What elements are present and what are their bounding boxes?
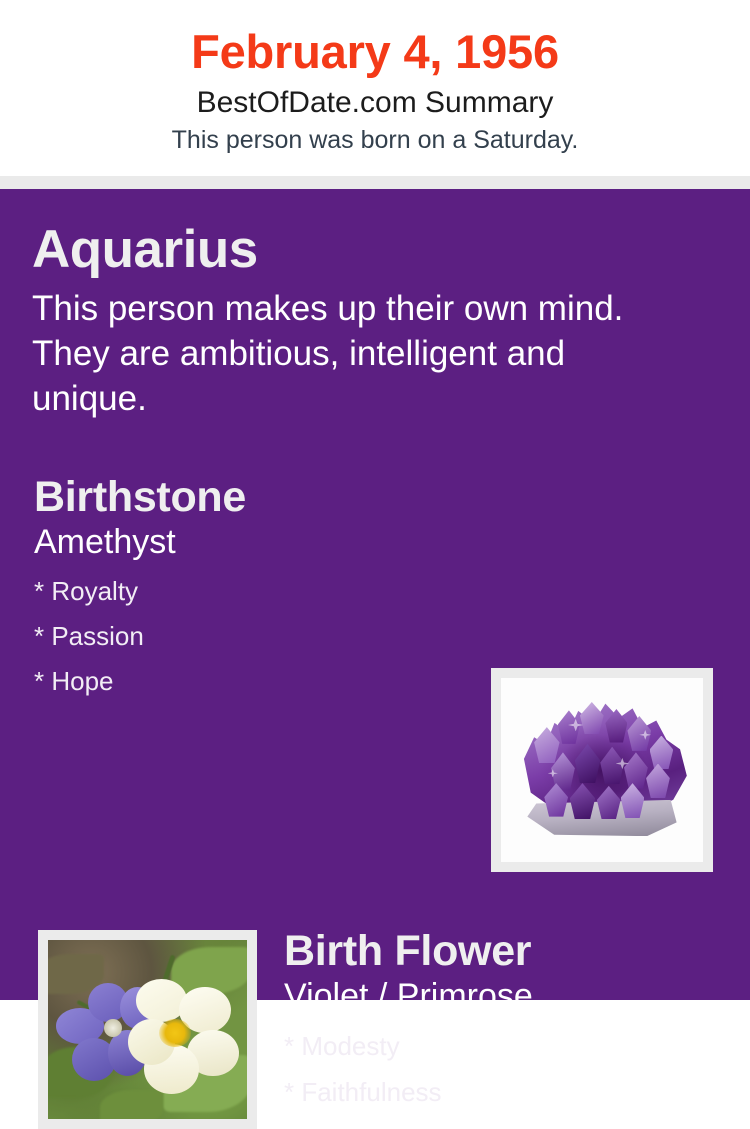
list-item: * Passion (34, 614, 464, 659)
birthflower-name: Violet / Primrose (284, 975, 724, 1017)
birthflower-heading: Birth Flower (284, 925, 724, 977)
birthflower-image (48, 940, 247, 1119)
list-item: * Hope (34, 659, 464, 704)
amethyst-crystal-icon (517, 696, 687, 836)
zodiac-sign-name: Aquarius (32, 219, 692, 281)
header-divider (0, 176, 750, 189)
birthstone-section: Birthstone Amethyst * Royalty * Passion … (0, 471, 750, 701)
summary-panel: Aquarius This person makes up their own … (0, 189, 750, 1000)
list-item: * Royalty (34, 569, 464, 614)
birthstone-text-block: Birthstone Amethyst * Royalty * Passion … (34, 471, 464, 704)
birthflower-text-block: Birth Flower Violet / Primrose * Modesty… (284, 925, 724, 1115)
zodiac-description: This person makes up their own mind. The… (32, 286, 677, 421)
birthstone-name: Amethyst (34, 521, 464, 563)
birthstone-image-frame (491, 668, 713, 872)
site-name: BestOfDate.com Summary (0, 84, 750, 122)
birthflower-image-frame (38, 930, 257, 1129)
birthstone-image (501, 678, 703, 862)
page-title-date: February 4, 1956 (0, 22, 750, 82)
list-item: * Faithfulness (284, 1069, 724, 1115)
birth-day-note: This person was born on a Saturday. (0, 124, 750, 156)
birthstone-trait-list: * Royalty * Passion * Hope (34, 569, 464, 704)
violet-primrose-icon (48, 940, 247, 1119)
page-header: February 4, 1956 BestOfDate.com Summary … (0, 0, 750, 176)
birthstone-heading: Birthstone (34, 471, 464, 523)
list-item: * Modesty (284, 1023, 724, 1069)
birthflower-trait-list: * Modesty * Faithfulness (284, 1023, 724, 1115)
zodiac-section: Aquarius This person makes up their own … (32, 219, 692, 421)
